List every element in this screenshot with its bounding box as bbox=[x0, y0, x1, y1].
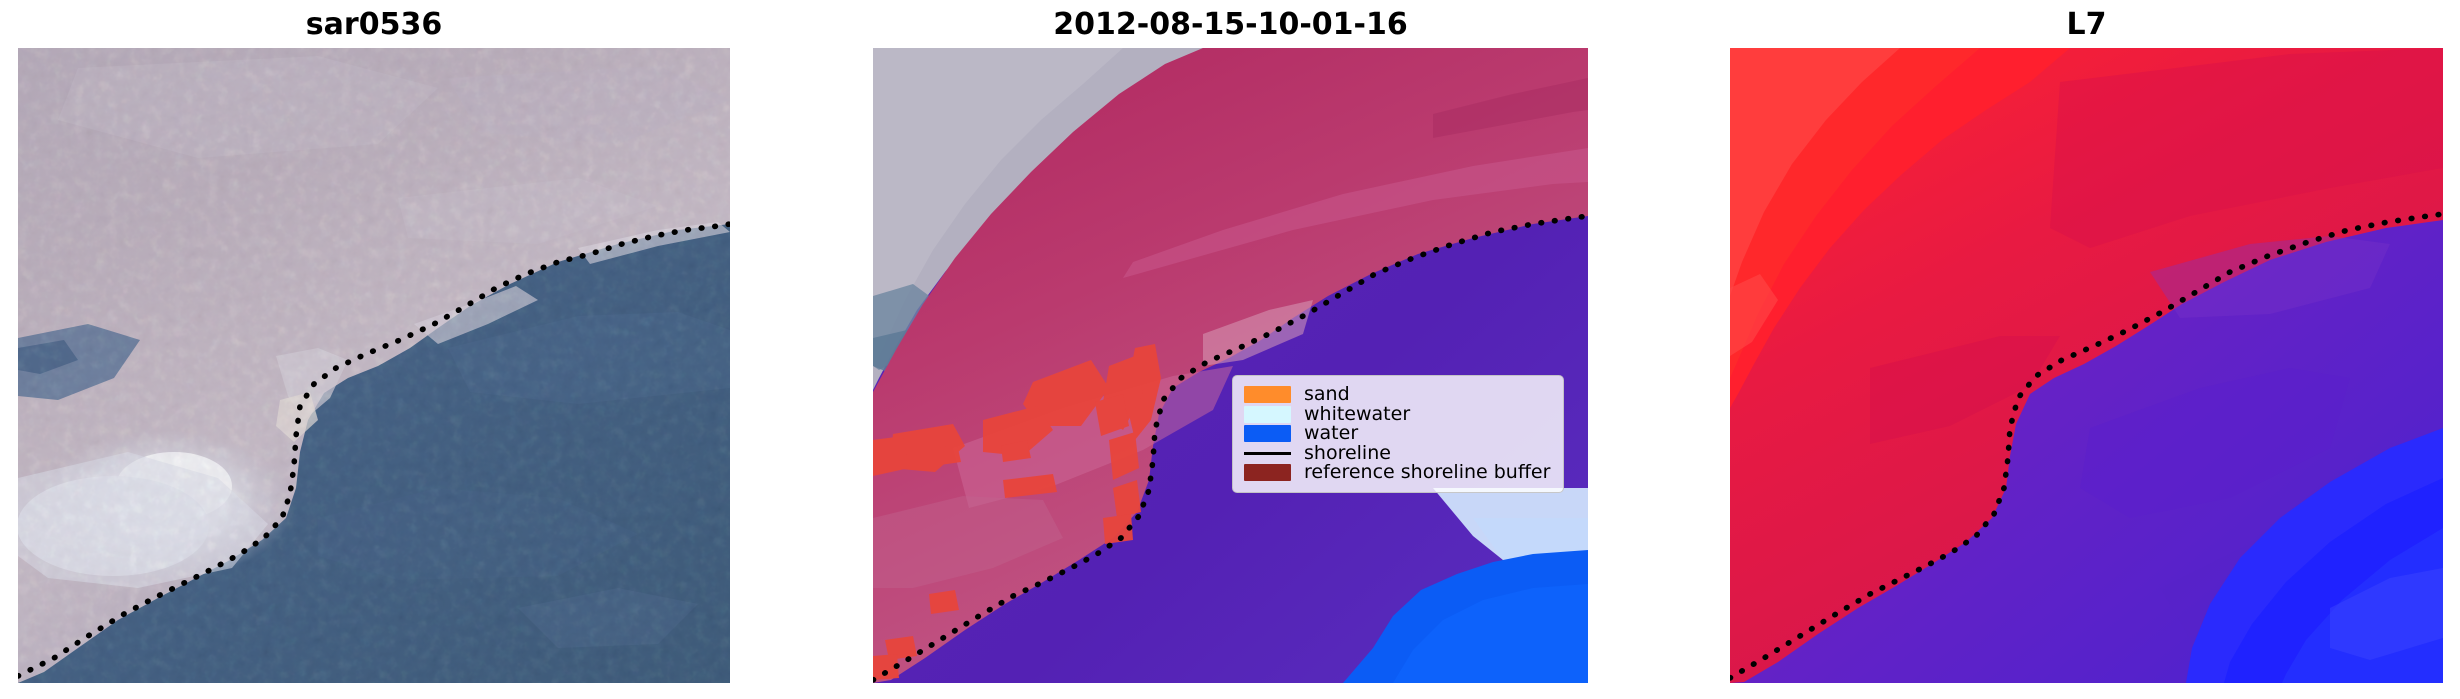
index-map-image bbox=[1730, 48, 2443, 683]
panel-satellite-rgb[interactable]: sar0536 bbox=[18, 48, 730, 683]
legend-item-shoreline[interactable]: shoreline bbox=[1244, 444, 1550, 464]
axes-index-map[interactable] bbox=[1730, 48, 2443, 683]
reference-shoreline-buffer-color-swatch bbox=[1244, 464, 1291, 481]
legend-item-sand[interactable]: sand bbox=[1244, 385, 1550, 405]
legend[interactable]: sand whitewater water shoreline referenc… bbox=[1232, 375, 1564, 493]
legend-label-whitewater: whitewater bbox=[1304, 405, 1410, 424]
legend-label-sand: sand bbox=[1304, 385, 1350, 404]
legend-item-reference-shoreline-buffer[interactable]: reference shoreline buffer bbox=[1244, 463, 1550, 483]
satellite-rgb-image bbox=[18, 48, 730, 683]
water-color-swatch bbox=[1244, 425, 1291, 442]
classified-overlay-image bbox=[873, 48, 1588, 683]
legend-label-shoreline: shoreline bbox=[1304, 444, 1391, 463]
panel-classified-overlay[interactable]: 2012-08-15-10-01-16 bbox=[873, 48, 1588, 683]
legend-label-water: water bbox=[1304, 424, 1358, 443]
panel-title-index-map: L7 bbox=[1730, 8, 2443, 42]
sand-color-swatch bbox=[1244, 386, 1291, 403]
whitewater-color-swatch bbox=[1244, 406, 1291, 423]
legend-item-water[interactable]: water bbox=[1244, 424, 1550, 444]
figure-canvas: sar0536 bbox=[0, 0, 2460, 699]
axes-satellite-rgb[interactable] bbox=[18, 48, 730, 683]
legend-label-reference-shoreline-buffer: reference shoreline buffer bbox=[1304, 463, 1550, 482]
axes-classified-overlay[interactable]: sand whitewater water shoreline referenc… bbox=[873, 48, 1588, 683]
shoreline-line-swatch bbox=[1244, 445, 1291, 462]
panel-index-map[interactable]: L7 bbox=[1730, 48, 2443, 683]
panel-title-classified-overlay: 2012-08-15-10-01-16 bbox=[873, 8, 1588, 42]
legend-item-whitewater[interactable]: whitewater bbox=[1244, 405, 1550, 425]
panel-title-satellite-rgb: sar0536 bbox=[18, 8, 730, 42]
